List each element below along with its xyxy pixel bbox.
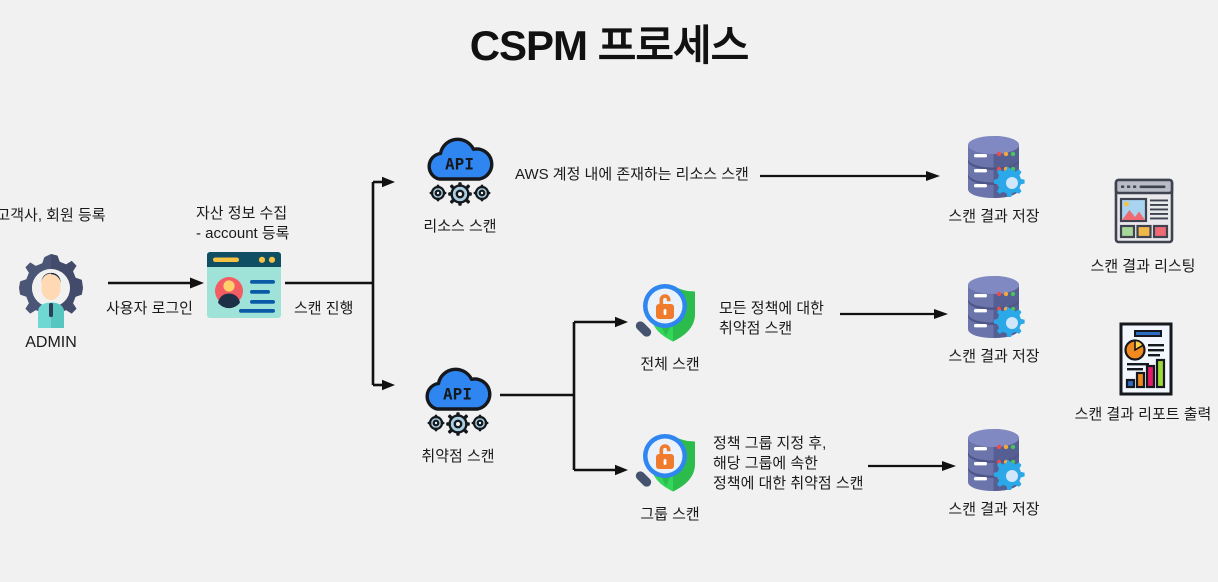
scan-result-listing-label: 스캔 결과 리스팅 bbox=[1091, 258, 1196, 277]
api-cloud-gears-icon: API bbox=[420, 366, 496, 445]
admin-caption-bottom: ADMIN bbox=[25, 332, 77, 353]
database-gear-icon bbox=[960, 132, 1030, 207]
database-gear-icon bbox=[960, 425, 1030, 500]
store-scan-result-top-label: 스캔 결과 저장 bbox=[948, 208, 1039, 227]
edge-fullscan-to-store-mid bbox=[840, 307, 948, 321]
edge-resource-to-store-top bbox=[760, 169, 940, 183]
edge-label-group-policy-vuln: 정책 그룹 지정 후, 해당 그룹에 속한 정책에 대한 취약점 스캔 bbox=[713, 434, 864, 493]
admin-caption-top: 고객사, 회원 등록 bbox=[0, 206, 106, 226]
report-document-chart-icon bbox=[1118, 322, 1174, 403]
edge-label-aws-resource-scan: AWS 계정 내에 존재하는 리소스 스캔 bbox=[515, 165, 749, 185]
magnifier-unlock-shield-icon bbox=[633, 278, 707, 353]
database-gear-icon bbox=[960, 272, 1030, 347]
resource-scan-label: 리소스 스캔 bbox=[423, 218, 496, 237]
webpage-listing-icon bbox=[1114, 178, 1174, 251]
edge-asset-branch-split bbox=[285, 175, 395, 400]
edge-label-login: 사용자 로그인 bbox=[106, 299, 193, 319]
edge-label-all-policy-vuln-line2: 취약점 스캔 bbox=[719, 320, 792, 337]
store-scan-result-mid-label: 스캔 결과 저장 bbox=[948, 348, 1039, 367]
edge-groupscan-to-store-bottom bbox=[868, 459, 956, 473]
group-scan-label: 그룹 스캔 bbox=[640, 506, 699, 525]
admin-gear-person-icon bbox=[11, 248, 91, 333]
edge-vuln-branch-split bbox=[500, 315, 628, 480]
api-cloud-gears-icon: API bbox=[422, 136, 498, 215]
edge-label-scan-progress: 스캔 진행 bbox=[294, 299, 353, 319]
edge-label-group-policy-line3: 정책에 대한 취약점 스캔 bbox=[713, 475, 864, 492]
browser-profile-card-icon bbox=[207, 252, 281, 323]
edge-label-all-policy-vuln-line1: 모든 정책에 대한 bbox=[719, 300, 824, 317]
svg-text:API: API bbox=[443, 385, 472, 404]
vulnerability-scan-label: 취약점 스캔 bbox=[421, 448, 494, 467]
asset-caption-line1: 자산 정보 수집 bbox=[196, 204, 287, 224]
svg-text:API: API bbox=[445, 155, 474, 174]
edge-admin-to-asset bbox=[108, 276, 204, 290]
edge-label-all-policy-vuln: 모든 정책에 대한 취약점 스캔 bbox=[719, 299, 824, 339]
magnifier-unlock-shield-icon bbox=[633, 428, 707, 503]
scan-result-report-label: 스캔 결과 리포트 출력 bbox=[1075, 406, 1212, 425]
full-scan-label: 전체 스캔 bbox=[640, 356, 699, 375]
page-title: CSPM 프로세스 bbox=[0, 12, 1218, 73]
store-scan-result-bottom-label: 스캔 결과 저장 bbox=[948, 501, 1039, 520]
edge-label-group-policy-line2: 해당 그룹에 속한 bbox=[713, 455, 818, 472]
edge-label-group-policy-line1: 정책 그룹 지정 후, bbox=[713, 435, 826, 452]
asset-caption-line2: - account 등록 bbox=[196, 224, 289, 244]
